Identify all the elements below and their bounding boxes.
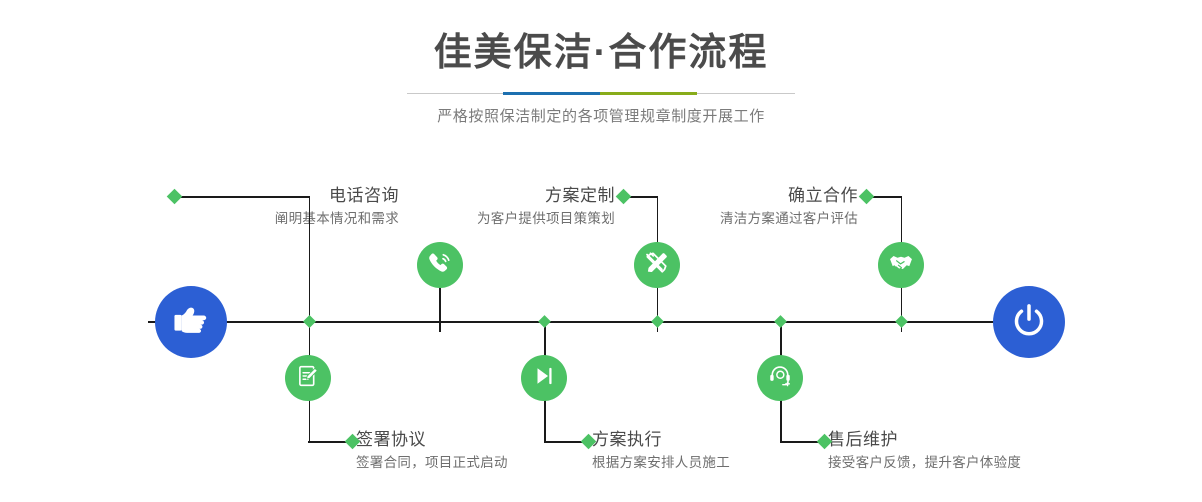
page-subtitle: 严格按照保洁制定的各项管理规章制度开展工作 [0,106,1202,128]
step-title-5: 售后维护 [828,428,1078,452]
connector-hline-1 [174,196,310,198]
headset-support-icon [767,363,793,394]
label-marker-1 [167,189,183,205]
step-node-5 [757,355,803,401]
timeline-axis [148,321,1054,323]
label-marker-6 [859,189,875,205]
handshake-icon [887,249,915,282]
step-node-2 [285,355,331,401]
phone-call-icon [426,249,454,282]
title-divider [407,92,795,95]
axis-tick-5 [774,315,787,328]
step-subtitle-1: 阐明基本情况和需求 [239,208,399,230]
label-marker-3 [616,189,632,205]
step-subtitle-3: 为客户提供项目策策划 [455,208,615,230]
step-title-4: 方案执行 [592,428,822,452]
step-title-3: 方案定制 [455,184,615,208]
power-icon [1009,300,1049,345]
step-label-5: 售后维护 接受客户反馈，提升客户体验度 [828,428,1078,474]
cooperation-process-infographic: 佳美保洁·合作流程 严格按照保洁制定的各项管理规章制度开展工作 [0,0,1202,502]
step-label-4: 方案执行 根据方案安排人员施工 [592,428,822,474]
document-sign-icon [295,363,321,394]
timeline-end-endpoint [993,286,1065,358]
page-header: 佳美保洁·合作流程 严格按照保洁制定的各项管理规章制度开展工作 [0,28,1202,128]
divider-green-segment [600,92,697,95]
connector-vline-1 [309,196,311,322]
axis-tick-6 [895,315,908,328]
step-title-2: 签署协议 [356,428,586,452]
step-node-3 [634,242,680,288]
step-subtitle-6: 清洁方案通过客户评估 [698,208,858,230]
step-node-6 [878,242,924,288]
timeline-start-endpoint [155,286,227,358]
step-node-4 [521,355,567,401]
step-subtitle-2: 签署合同，项目正式启动 [356,452,586,474]
axis-tick-3 [538,315,551,328]
divider-blue-segment [503,92,600,95]
step-subtitle-4: 根据方案安排人员施工 [592,452,822,474]
page-title: 佳美保洁·合作流程 [0,28,1202,78]
axis-tick-2 [303,315,316,328]
step-label-1: 电话咨询 阐明基本情况和需求 [239,184,399,230]
play-execute-icon [531,363,557,394]
step-label-6: 确立合作 清洁方案通过客户评估 [698,184,858,230]
step-node-1 [417,242,463,288]
step-label-3: 方案定制 为客户提供项目策策划 [455,184,615,230]
axis-tick-3b [651,315,664,328]
step-subtitle-5: 接受客户反馈，提升客户体验度 [828,452,1078,474]
thumbs-up-icon [170,299,212,346]
pencil-ruler-icon [643,249,671,282]
step-title-6: 确立合作 [698,184,858,208]
step-label-2: 签署协议 签署合同，项目正式启动 [356,428,586,474]
